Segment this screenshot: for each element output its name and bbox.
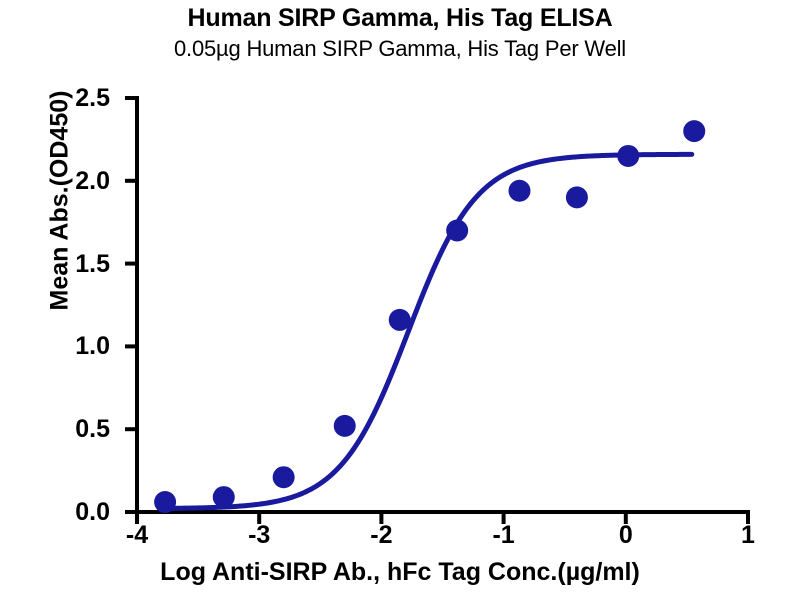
- data-point: [213, 486, 235, 508]
- data-point: [154, 491, 176, 513]
- data-point: [566, 186, 588, 208]
- sigmoid-fit-curve: [161, 154, 691, 508]
- data-point: [389, 309, 411, 331]
- data-point: [334, 415, 356, 437]
- data-point: [446, 219, 468, 241]
- axis-spines: [137, 98, 748, 512]
- data-point: [508, 180, 530, 202]
- data-point: [683, 120, 705, 142]
- data-point: [617, 145, 639, 167]
- chart-figure: Human SIRP Gamma, His Tag ELISA 0.05µg H…: [0, 0, 800, 600]
- data-point-group: [154, 120, 705, 513]
- data-point: [273, 466, 295, 488]
- plot-area: [0, 0, 800, 600]
